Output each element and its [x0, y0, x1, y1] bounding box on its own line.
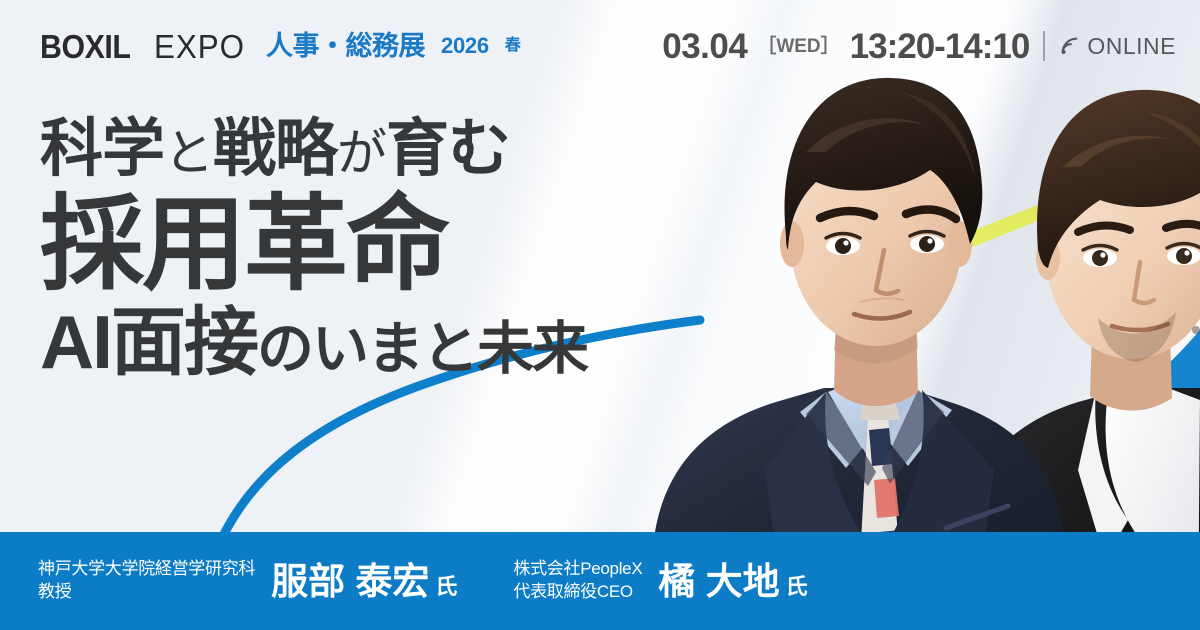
accent-stroke-lime-cyan	[945, 142, 1200, 250]
title-line-3: AI面接のいまと未来	[40, 305, 780, 380]
title-line-1-d: が	[337, 125, 386, 181]
event-date: 03.04	[662, 29, 747, 64]
page-title: 科学と戦略が育む 採用革命 AI面接のいまと未来	[40, 118, 780, 380]
speaker-1-name-group: 服部 泰宏氏	[271, 563, 457, 600]
title-line-3-b: のいまと未来	[257, 317, 587, 381]
title-line-3-a: AI面接	[40, 300, 257, 384]
online-label: ONLINE	[1087, 35, 1176, 58]
online-badge: ONLINE	[1059, 35, 1176, 58]
accent-stroke-lime-short	[905, 243, 960, 265]
speaker-2-suffix: 氏	[786, 574, 808, 599]
speaker-bar: 神戸大学大学院経営学研究科 教授 服部 泰宏氏 株式会社PeopleX 代表取締…	[0, 532, 1200, 630]
speaker-1-affiliation-line1: 神戸大学大学院経営学研究科	[38, 558, 255, 581]
speaker-1-suffix: 氏	[435, 574, 457, 599]
speaker-2-affiliation-line2: 代表取締役CEO	[513, 581, 642, 604]
expo-wordmark: EXPO	[154, 30, 245, 63]
title-line-1-a: 科学	[40, 114, 164, 184]
speaker-2-affiliation-line1: 株式会社PeopleX	[513, 558, 642, 581]
speaker-2-affiliation: 株式会社PeopleX 代表取締役CEO	[513, 558, 642, 604]
speaker-entry-1: 神戸大学大学院経営学研究科 教授 服部 泰宏氏	[38, 558, 457, 604]
speaker-1-name: 服部 泰宏	[271, 561, 429, 602]
speaker-2-name: 橘 大地	[658, 561, 779, 602]
event-time: 13:20-14:10	[850, 29, 1030, 64]
schedule-group: 03.04 ［WED］ 13:20-14:10 ONLINE	[662, 22, 1176, 70]
title-line-1-e: 育む	[386, 114, 510, 184]
expo-year: 2026	[441, 35, 489, 57]
expo-category-label: 人事・総務展	[266, 33, 425, 60]
speaker-1-affiliation: 神戸大学大学院経営学研究科 教授	[38, 558, 255, 604]
expo-season: 春	[505, 38, 521, 54]
title-line-1: 科学と戦略が育む	[40, 118, 780, 181]
boxil-wordmark: BOXIL	[40, 30, 130, 63]
title-line-1-c: 戦略	[213, 114, 337, 184]
speaker-1-affiliation-line2: 教授	[38, 581, 255, 604]
title-line-2: 採用革命	[40, 193, 780, 297]
speaker-2-name-group: 橘 大地氏	[658, 563, 807, 600]
event-banner: BOXIL EXPO 人事・総務展 2026 春 03.04 ［WED］ 13:…	[0, 0, 1200, 630]
title-line-1-b: と	[164, 125, 213, 181]
speaker-entry-2: 株式会社PeopleX 代表取締役CEO 橘 大地氏	[513, 558, 807, 604]
event-day-of-week: ［WED］	[757, 37, 839, 56]
rss-broadcast-icon	[1059, 35, 1081, 57]
schedule-divider	[1043, 31, 1045, 61]
event-logo-group: BOXIL EXPO 人事・総務展 2026 春	[40, 22, 521, 70]
